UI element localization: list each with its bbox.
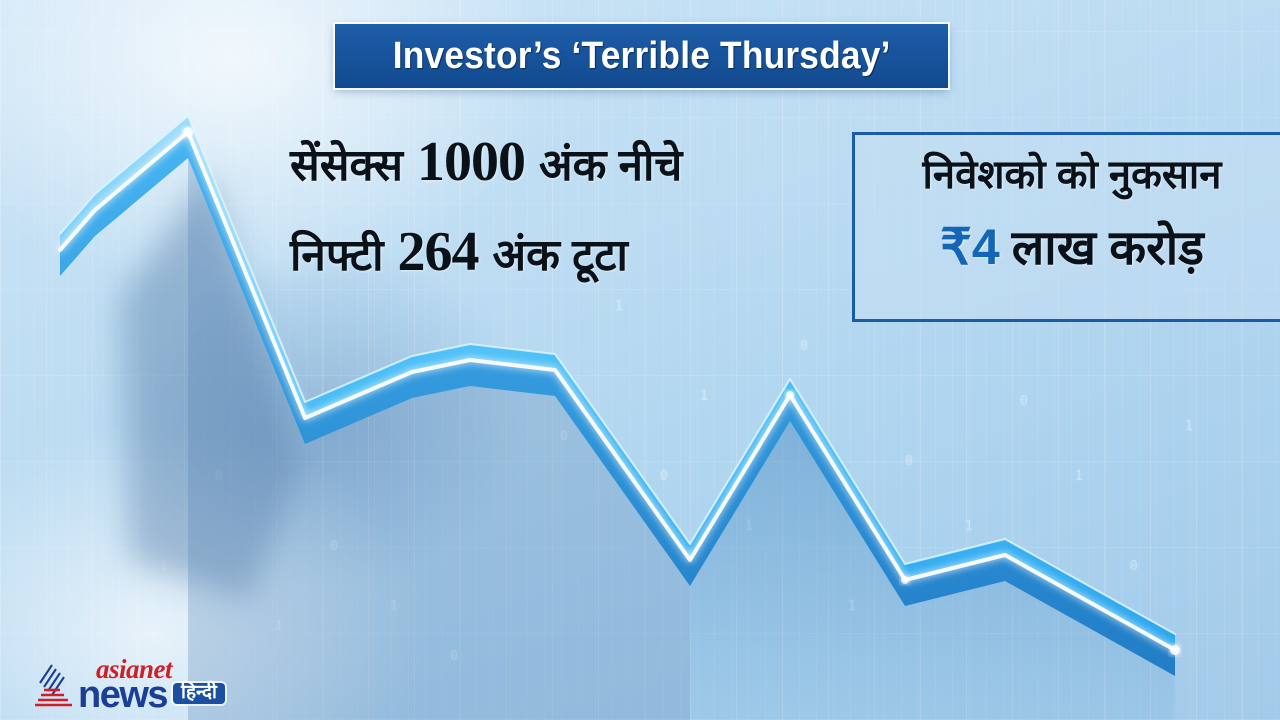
logo-news-row: news हिन्दी: [78, 680, 225, 711]
loss-caption: निवेशको को नुकसान: [871, 145, 1273, 200]
headline-banner: Investor’s ‘Terrible Thursday’: [335, 24, 948, 88]
logo-language-badge: हिन्दी: [173, 683, 225, 704]
headline-row-sensex: सेंसेक्स 1000 अंक नीचे: [290, 130, 850, 194]
sensex-label: सेंसेक्स: [290, 133, 403, 193]
nifty-direction-text: अंक टूटा: [493, 223, 628, 283]
asianet-news-logo: asianet news हिन्दी: [30, 658, 225, 711]
chart-node-peak: [183, 127, 193, 137]
asianet-triangle-mark: [30, 661, 76, 711]
logo-brand-secondary: news: [78, 680, 167, 711]
loss-amount: ₹4: [940, 218, 1000, 276]
headline-group: सेंसेक्स 1000 अंक नीचे निफ्टी 264 अंक टू…: [290, 130, 850, 284]
loss-unit: लाख करोड़: [1012, 214, 1204, 279]
stock-trend-line-chart: [0, 0, 1280, 720]
chart-node-end: [1170, 645, 1180, 655]
banner-title: Investor’s ‘Terrible Thursday’: [393, 35, 891, 78]
headline-row-nifty: निफ्टी 264 अंक टूटा: [290, 220, 850, 284]
sensex-direction-text: अंक नीचे: [539, 133, 682, 193]
loss-value-row: ₹4 लाख करोड़: [871, 214, 1273, 279]
nifty-label: निफ्टी: [290, 223, 384, 283]
logo-wordmark: asianet news हिन्दी: [78, 658, 225, 711]
infographic-canvas: 1 0 1 0 1 1 0 1 0 1 0 1 0 1 1 0 1 0 1 0: [0, 0, 1280, 720]
chart-node-trough: [901, 576, 909, 584]
investor-loss-box: निवेशको को नुकसान ₹4 लाख करोड़: [852, 132, 1280, 322]
nifty-points-value: 264: [398, 220, 479, 284]
sensex-points-value: 1000: [417, 130, 525, 194]
chart-node-rebound: [786, 391, 794, 399]
